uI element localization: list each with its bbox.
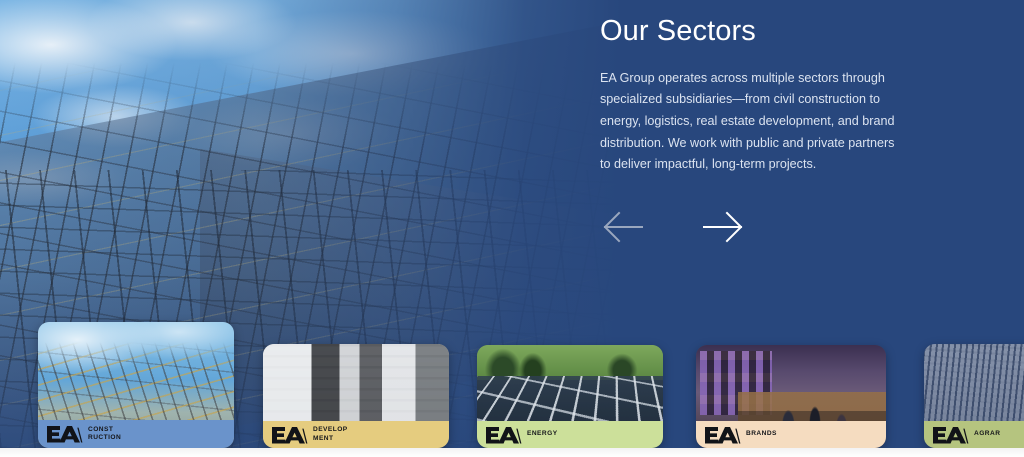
ea-logo-icon — [272, 426, 308, 444]
ea-logo-icon — [933, 426, 969, 444]
sector-card-construction[interactable]: CONST RUCTION — [38, 322, 234, 448]
sector-card-energy[interactable]: ENERGY — [477, 345, 663, 448]
card-sector-name: BRANDS — [746, 430, 777, 438]
card-footer: DEVELOP MENT — [263, 421, 449, 448]
card-footer: AGRAR — [924, 421, 1024, 448]
sector-card-agrar[interactable]: AGRAR — [924, 344, 1024, 448]
sector-card-brands[interactable]: BRANDS — [696, 345, 886, 448]
sectors-section: Our Sectors EA Group operates across mul… — [0, 0, 1024, 457]
card-sector-name: ENERGY — [527, 430, 558, 438]
ea-logo-icon — [486, 426, 522, 444]
ea-logo-icon — [47, 425, 83, 443]
page-bottom-strip — [0, 448, 1024, 457]
card-sector-name: CONST RUCTION — [88, 426, 121, 442]
card-footer: ENERGY — [477, 421, 663, 448]
card-footer: CONST RUCTION — [38, 420, 234, 448]
sector-card-development[interactable]: DEVELOP MENT — [263, 344, 449, 448]
sector-card-list: CONST RUCTION DEVELOP MENT — [0, 0, 1024, 457]
card-sector-name: DEVELOP MENT — [313, 426, 348, 442]
card-sector-name: AGRAR — [974, 430, 1000, 438]
ea-logo-icon — [705, 426, 741, 444]
card-footer: BRANDS — [696, 421, 886, 448]
